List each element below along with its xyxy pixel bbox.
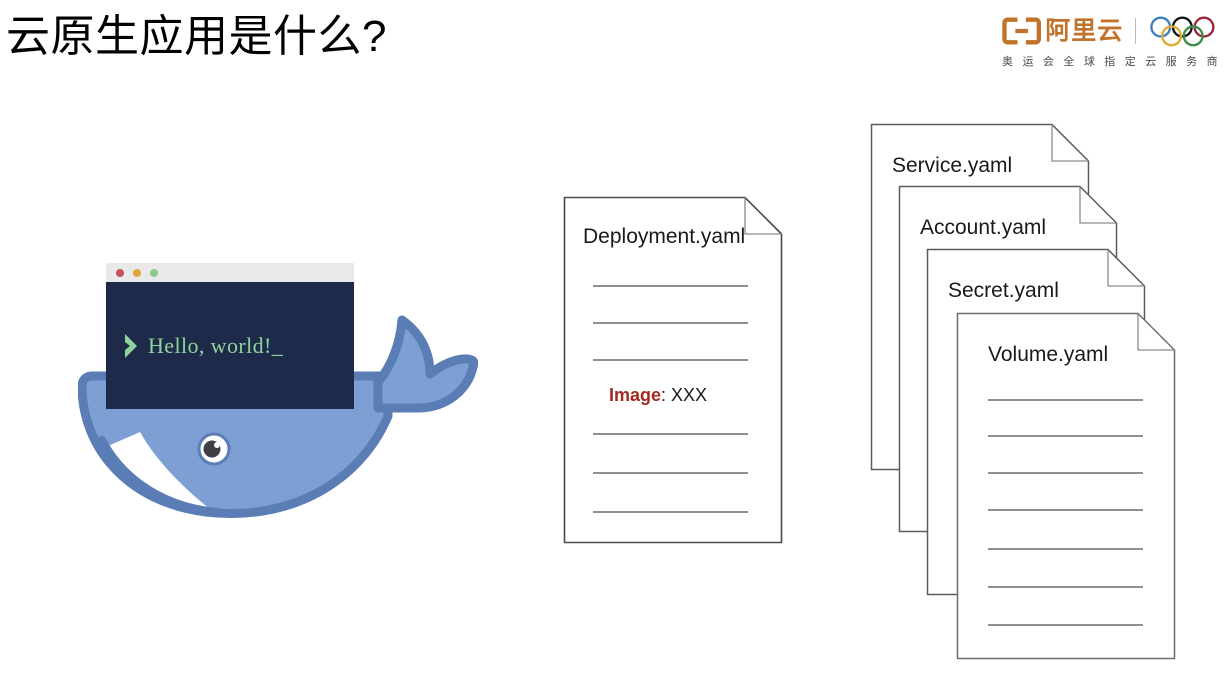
document-rule [593,433,748,435]
brand-wordmark: 阿里云 [1045,19,1123,44]
document-title: Account.yaml [920,215,1046,241]
slide-canvas: 云原生应用是什么? 阿里云 奥 运 会 全 球 指 定 云 服 务 商 [0,0,1230,677]
brand-logo: 阿里云 奥 运 会 全 球 指 定 云 服 务 商 [1002,14,1218,76]
olympic-rings-icon [1147,15,1218,47]
brand-row: 阿里云 [1002,14,1218,48]
image-field-key: Image [609,385,661,405]
document-rule [593,322,748,324]
document-title: Deployment.yaml [583,224,745,250]
minimize-dot[interactable] [133,269,141,277]
document-rule [988,435,1143,437]
document-rule [988,548,1143,550]
chevron-right-prompt-icon [123,333,139,359]
document-rule [988,624,1143,626]
document-rule [988,586,1143,588]
document-rule [593,472,748,474]
window-titlebar [106,263,354,282]
document-title: Service.yaml [892,153,1012,179]
brand-divider [1135,18,1136,44]
image-field-value: : XXX [661,385,707,405]
image-field: Image: XXX [609,384,707,406]
close-dot[interactable] [116,269,124,277]
terminal-body: Hello, world!_ [106,282,354,409]
document-title: Volume.yaml [988,342,1108,368]
docker-illustration: Hello, world!_ [78,250,478,535]
document-title: Secret.yaml [948,278,1059,304]
brand-tagline: 奥 运 会 全 球 指 定 云 服 务 商 [1002,56,1218,69]
document-rule [593,285,748,287]
yaml-document-stack: Service.yaml Account.yaml Secret.yaml [870,123,1190,668]
alibaba-cloud-bracket-icon [1002,17,1041,45]
document-rule [593,511,748,513]
maximize-dot[interactable] [150,269,158,277]
document-rule [988,509,1143,511]
terminal-output-text: Hello, world!_ [148,333,283,359]
document-rule [988,399,1143,401]
volume-yaml-document[interactable]: Volume.yaml [956,312,1176,660]
document-rule [593,359,748,361]
deployment-yaml-document[interactable]: Deployment.yaml Image: XXX [563,196,783,544]
document-rule [988,472,1143,474]
browser-window-icon: Hello, world!_ [106,263,354,409]
page-title: 云原生应用是什么? [6,8,387,66]
